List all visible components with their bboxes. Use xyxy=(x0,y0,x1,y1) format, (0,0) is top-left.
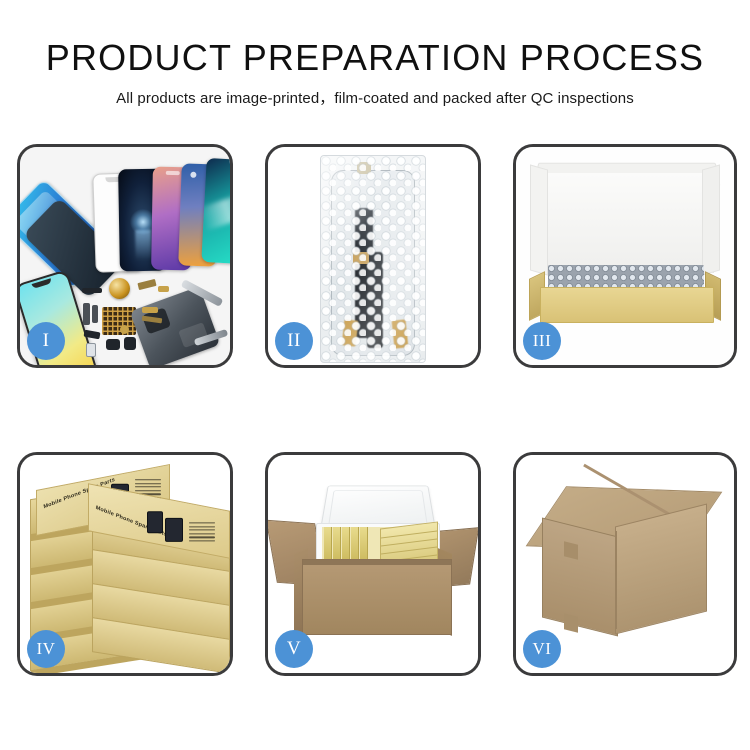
process-step-card-5[interactable]: V xyxy=(265,452,481,676)
carton-left-panel xyxy=(542,518,618,637)
spare-part xyxy=(142,307,158,313)
step-numeral-1: I xyxy=(43,330,50,352)
carton-right-panel xyxy=(615,504,707,635)
spare-part xyxy=(82,288,102,293)
process-step-card-6[interactable]: VI xyxy=(513,452,737,676)
box-interior xyxy=(540,173,714,273)
header: PRODUCT PREPARATION PROCESS All products… xyxy=(0,36,750,108)
step-numeral-2: II xyxy=(287,330,301,352)
bubble-texture xyxy=(321,156,425,362)
process-step-grid: I II xyxy=(17,144,737,676)
logic-board-chip xyxy=(102,307,136,335)
process-step-card-1[interactable]: I xyxy=(17,144,233,368)
page-title: PRODUCT PREPARATION PROCESS xyxy=(0,36,750,80)
carton-corner-seam xyxy=(615,531,617,629)
box-phone-graphic xyxy=(165,518,183,542)
step-badge-6: VI xyxy=(523,630,561,668)
spare-part xyxy=(86,343,96,357)
bubble-wrap-bag xyxy=(320,155,426,363)
carton-tab xyxy=(564,613,578,632)
step-badge-4: IV xyxy=(27,630,65,668)
step-numeral-3: III xyxy=(533,331,551,351)
process-step-card-4[interactable]: Mobile Phone Spare Parts Mobile Phone Sp… xyxy=(17,452,233,676)
spare-part xyxy=(92,305,98,323)
step-numeral-4: IV xyxy=(37,639,56,659)
box-flap-left xyxy=(530,164,548,275)
step-badge-3: III xyxy=(523,322,561,360)
box-phone-graphic xyxy=(147,511,163,533)
box-front-panel xyxy=(540,287,714,323)
carton-tab xyxy=(564,541,578,559)
step-numeral-5: V xyxy=(287,638,301,660)
step-badge-2: II xyxy=(275,322,313,360)
spare-part xyxy=(137,279,156,290)
spare-part xyxy=(124,337,136,350)
process-step-card-2[interactable]: II xyxy=(265,144,481,368)
carton-front-panel xyxy=(302,559,452,635)
box-flap-right xyxy=(702,164,720,275)
step-badge-1: I xyxy=(27,322,65,360)
step-badge-5: V xyxy=(275,630,313,668)
spare-part xyxy=(120,325,129,334)
page-subtitle: All products are image-printed，film-coat… xyxy=(0,87,750,108)
spare-part xyxy=(83,303,90,325)
spare-part xyxy=(158,286,169,292)
spare-part xyxy=(106,339,120,350)
process-step-card-3[interactable]: III xyxy=(513,144,737,368)
product-preparation-infographic: PRODUCT PREPARATION PROCESS All products… xyxy=(0,0,750,750)
phone-teal-wave xyxy=(201,158,230,264)
speaker-coil-part xyxy=(109,278,130,299)
box-spec-lines xyxy=(189,522,215,543)
step-numeral-6: VI xyxy=(533,639,552,659)
